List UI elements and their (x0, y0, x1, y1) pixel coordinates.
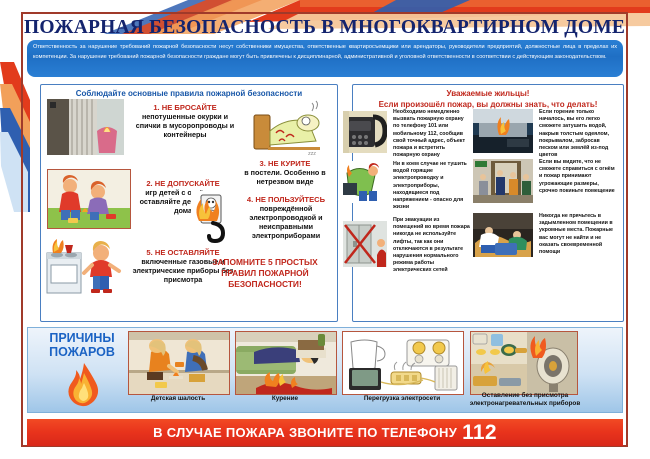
rule-4-heading: 4. НЕ ПОЛЬЗУЙТЕСЬ (239, 195, 333, 204)
cause-2-caption: Курение (235, 395, 335, 403)
rule-1-body: непотушенные окурки и спички в мусоропро… (129, 112, 241, 139)
cause-1-caption: Детская шалость (128, 395, 228, 403)
intro-text: Ответственность за нарушение требований … (33, 43, 617, 62)
rule-5-heading: 5. НЕ ОСТАВЛЯЙТЕ (131, 248, 235, 257)
overloaded-power-strip-illustration (342, 331, 464, 395)
right-actions-panel: Уважаемые жильцы! Если произошёл пожар, … (352, 84, 624, 322)
flame-icon (66, 361, 102, 407)
left-rules-panel: Соблюдайте основные правила пожарной без… (40, 84, 338, 322)
causes-title-line1: ПРИЧИНЫ (49, 331, 114, 345)
no-water-on-electrics-illustration (343, 161, 387, 203)
action-4-text: Если вы видите, что не сможете справитьс… (539, 159, 617, 195)
cause-4-caption: Оставление без присмотра электронагреват… (466, 392, 584, 408)
causes-of-fires-section: ПРИЧИНЫ ПОЖАРОВ (27, 327, 623, 413)
rule-1-text: 1. НЕ БРОСАЙТЕ непотушенные окурки и спи… (129, 103, 241, 139)
action-3-body: Ни в коем случае не тушить водой горящие… (393, 161, 467, 210)
action-6-body: Никогда не прячьтесь в задымленном помещ… (539, 213, 613, 255)
trash-chute-fire-photo (47, 99, 124, 155)
action-5-text: При эвакуации из помещений во время пожа… (393, 217, 471, 275)
right-panel-header: Уважаемые жильцы! Если произошёл пожар, … (353, 85, 623, 110)
rule-3-heading: 3. НЕ КУРИТЕ (237, 159, 333, 168)
causes-title: ПРИЧИНЫ ПОЖАРОВ (36, 331, 128, 359)
extinguishing-small-fire-photo (473, 109, 533, 153)
children-with-matches-photo (128, 331, 230, 395)
right-panel-header-line1: Уважаемые жильцы! (447, 89, 530, 98)
rescue-from-smoke-photo (473, 213, 533, 257)
action-1-body: Необходимо немедленно вызвать пожарную о… (393, 109, 465, 158)
action-6-text: Никогда не прячьтесь в задымленном помещ… (539, 213, 619, 256)
rule-1-heading: 1. НЕ БРОСАЙТЕ (129, 103, 241, 112)
smoking-in-bed-illustration: zzz (246, 97, 328, 159)
rule-3-text: 3. НЕ КУРИТЕ в постели. Особенно в нетре… (237, 159, 333, 186)
rule-4-body: повреждённой электропроводкой и неисправ… (239, 204, 333, 240)
causes-title-line2: ПОЖАРОВ (49, 345, 115, 359)
unattended-heaters-photo (470, 331, 578, 395)
people-leaving-room-photo (473, 159, 533, 203)
burning-socket-illustration (191, 191, 239, 243)
rule-4-text: 4. НЕ ПОЛЬЗУЙТЕСЬ повреждённой электропр… (239, 195, 333, 240)
cause-3-caption: Перегрузка электросети (342, 395, 462, 403)
remember-callout: ЗАПОМНИТЕ 5 ПРОСТЫХ ПРАВИЛ ПОЖАРНОЙ БЕЗО… (197, 257, 333, 290)
action-5-body: При эвакуации из помещений во время пожа… (393, 217, 470, 273)
rule-2-heading: 2. НЕ ДОПУСКАЙТЕ (131, 179, 235, 188)
emergency-call-banner: В СЛУЧАЕ ПОЖАРА ЗВОНИТЕ ПО ТЕЛЕФОНУ 112 (27, 419, 623, 446)
banner-text: В СЛУЧАЕ ПОЖАРА ЗВОНИТЕ ПО ТЕЛЕФОНУ (153, 425, 457, 440)
action-1-text: Необходимо немедленно вызвать пожарную о… (393, 109, 467, 159)
fire-safety-poster: ПОЖАРНАЯ БЕЗОПАСНОСТЬ В МНОГОКВАРТИРНОМ … (0, 0, 650, 459)
svg-text:zzz: zzz (308, 151, 316, 157)
action-3-text: Ни в коем случае не тушить водой горящие… (393, 161, 467, 211)
man-sleeping-on-sofa-photo (235, 331, 337, 395)
rule-3-body: в постели. Особенно в нетрезвом виде (237, 168, 333, 186)
action-2-text: Если горение только началось, вы его лег… (539, 109, 617, 159)
action-4-body: Если вы видите, что не сможете справитьс… (539, 159, 615, 194)
unattended-stove-illustration (45, 235, 129, 297)
action-2-body: Если горение только началось, вы его лег… (539, 109, 609, 158)
no-elevator-sign-photo (343, 221, 387, 267)
intro-responsibility-box: Ответственность за нарушение требований … (27, 40, 623, 77)
children-playing-with-matches-illustration (47, 169, 131, 229)
page-title: ПОЖАРНАЯ БЕЗОПАСНОСТЬ В МНОГОКВАРТИРНОМ … (24, 16, 625, 40)
telephone-photo (343, 111, 387, 153)
banner-number: 112 (462, 422, 497, 443)
